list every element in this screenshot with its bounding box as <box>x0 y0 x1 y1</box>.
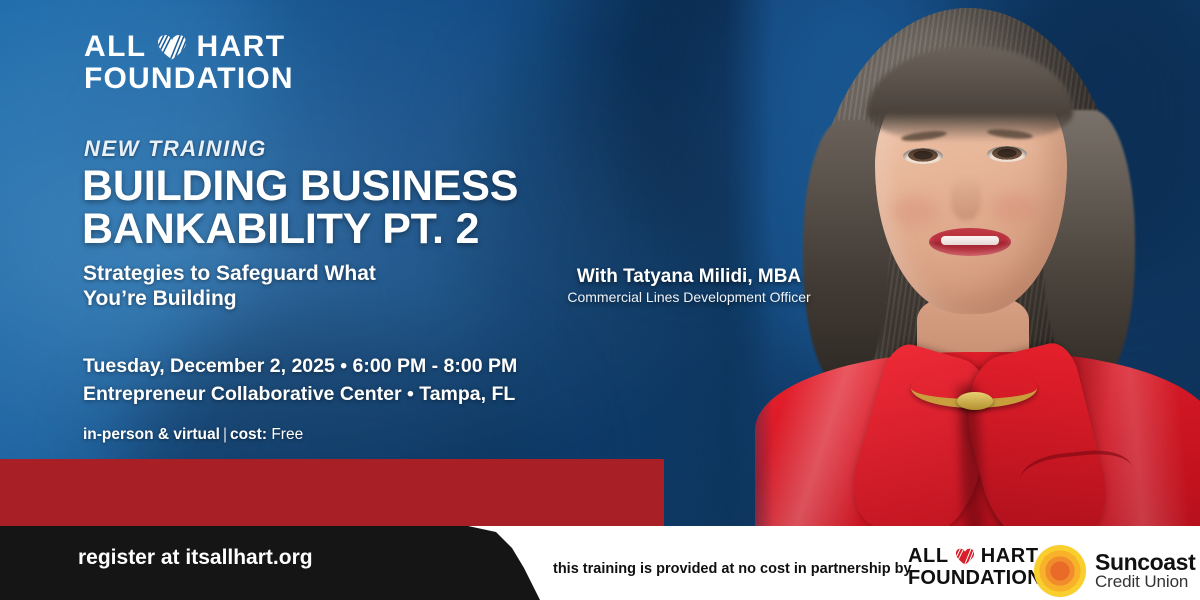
speaker-role: Commercial Lines Development Officer <box>565 289 813 305</box>
sun-icon <box>1034 545 1086 597</box>
subtitle-line-2: You’re Building <box>83 287 376 312</box>
footer-brand-word-hart: HART <box>981 547 1039 566</box>
event-format: in-person & virtual <box>83 426 220 443</box>
eye-left <box>903 148 943 164</box>
heart-icon <box>157 34 187 60</box>
cheek-right <box>991 193 1039 223</box>
cost-label: cost: <box>230 426 267 443</box>
suncoast-name: Suncoast <box>1095 551 1195 574</box>
cheek-left <box>891 196 939 226</box>
page-title: BUILDING BUSINESS BANKABILITY PT. 2 <box>82 165 518 250</box>
title-line-2: BANKABILITY PT. 2 <box>82 208 518 251</box>
register-cta[interactable]: register at itsallhart.org <box>78 546 313 570</box>
brand-word-all: ALL <box>84 33 147 61</box>
red-accent-band <box>0 459 664 526</box>
event-details: Tuesday, December 2, 2025 • 6:00 PM - 8:… <box>83 352 517 409</box>
gold-necklace-pendant <box>957 392 993 410</box>
event-date-time: Tuesday, December 2, 2025 • 6:00 PM - 8:… <box>83 352 517 380</box>
eyebrow-label: NEW TRAINING <box>84 136 267 162</box>
brand-word-foundation: FOUNDATION <box>84 64 294 94</box>
suncoast-tagline: Credit Union <box>1095 573 1195 591</box>
suncoast-credit-union-logo: Suncoast Credit Union <box>1034 545 1195 597</box>
speaker-credit: With Tatyana Milidi, MBA Commercial Line… <box>565 266 813 305</box>
nose <box>951 176 981 220</box>
event-flyer: ALL <box>0 0 1200 600</box>
subtitle-line-1: Strategies to Safeguard What <box>83 262 376 287</box>
event-meta: in-person & virtual|cost: Free <box>83 426 303 444</box>
partnership-note: this training is provided at no cost in … <box>553 561 912 577</box>
meta-separator: | <box>220 426 230 443</box>
suncoast-wordmark: Suncoast Credit Union <box>1095 551 1195 591</box>
speaker-name: With Tatyana Milidi, MBA <box>565 266 813 288</box>
heart-icon <box>955 548 975 565</box>
event-venue: Entrepreneur Collaborative Center • Tamp… <box>83 380 517 408</box>
footer-brand-word-foundation: FOUNDATION <box>908 568 1042 588</box>
eye-right <box>987 146 1027 162</box>
title-line-1: BUILDING BUSINESS <box>82 165 518 208</box>
teeth <box>941 236 999 245</box>
footer-brand-word-all: ALL <box>908 547 949 566</box>
footer-allhart-logo: ALL <box>908 547 1042 588</box>
allhart-foundation-logo: ALL <box>84 33 294 94</box>
subtitle: Strategies to Safeguard What You’re Buil… <box>83 262 376 312</box>
brand-word-hart: HART <box>197 33 286 61</box>
cost-value: Free <box>271 426 303 443</box>
